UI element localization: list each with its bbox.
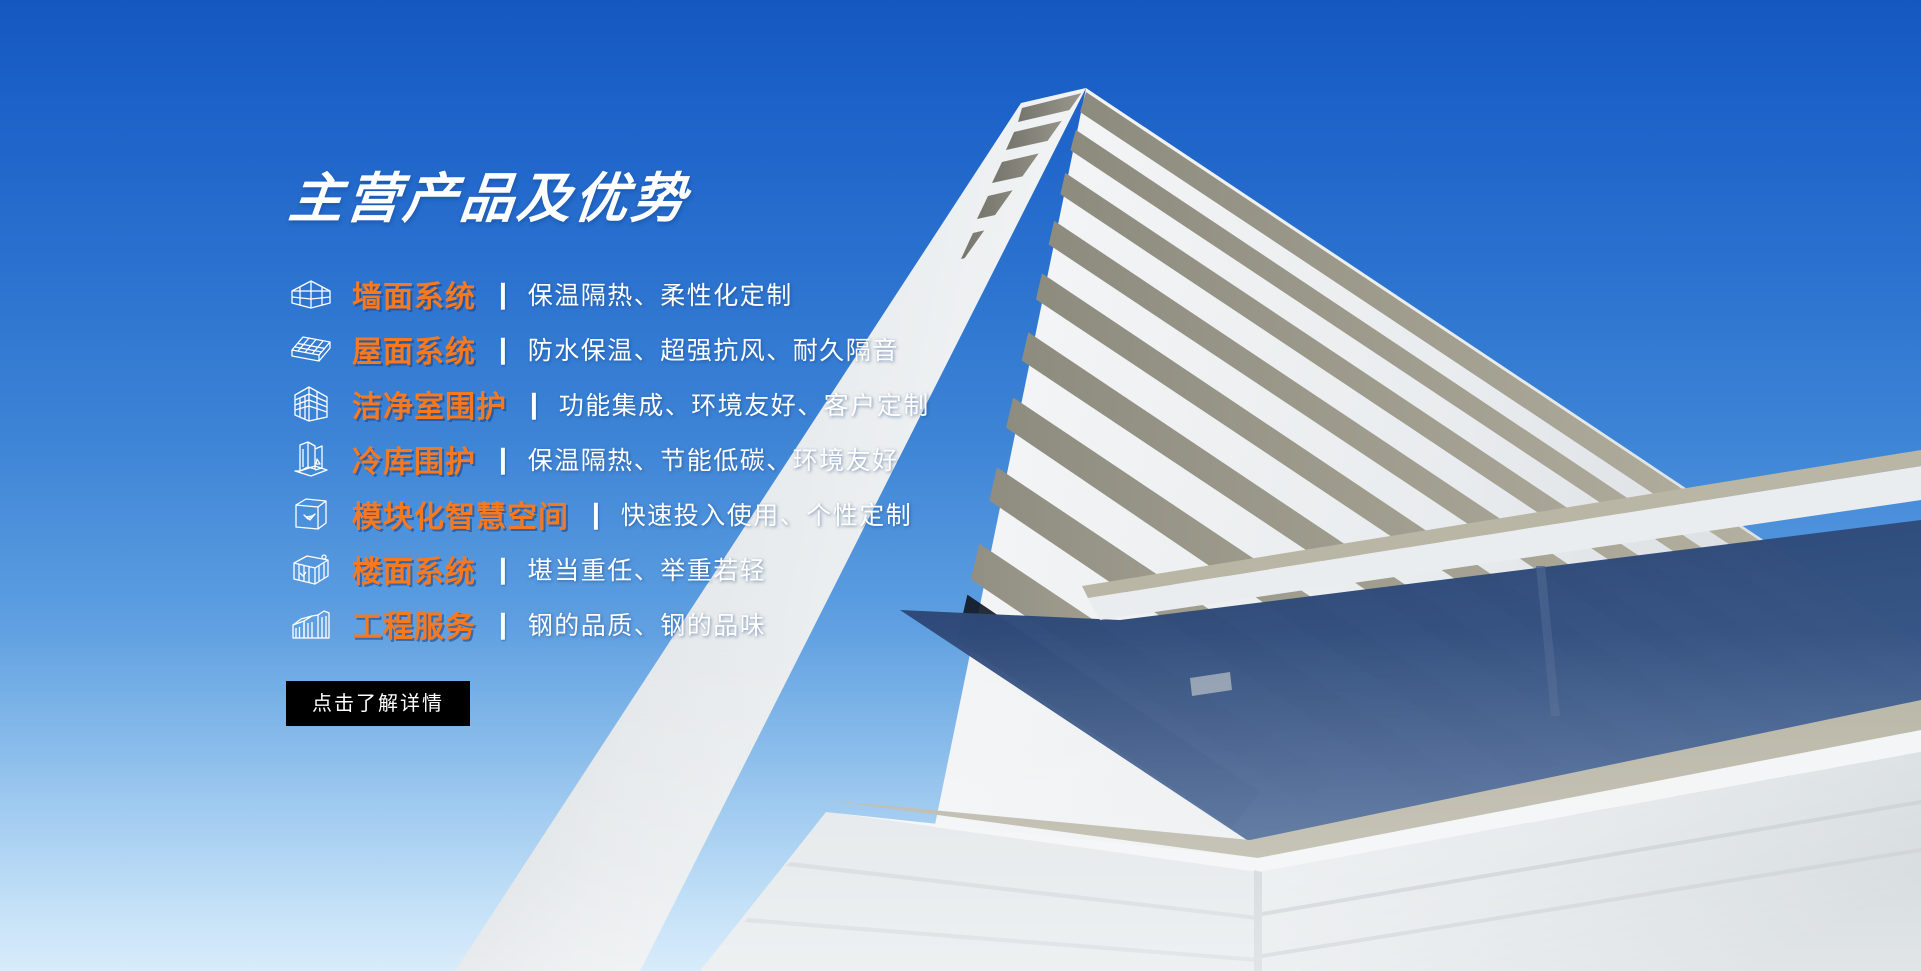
page-title: 主营产品及优势 — [286, 168, 1193, 230]
title-desc-separator: ❙ — [495, 446, 511, 472]
title-desc-separator: ❙ — [526, 391, 542, 417]
lower-block — [700, 700, 1921, 971]
title-desc-separator: ❙ — [495, 611, 511, 637]
product-desc: 保温隔热、节能低碳、环境友好 — [528, 441, 899, 477]
list-item[interactable]: 楼面系统 ❙ 堪当重任、举重若轻 — [286, 541, 1186, 596]
modular-smart-space-icon — [286, 491, 336, 537]
floor-system-icon — [286, 546, 336, 592]
learn-more-button[interactable]: 点击了解详情 — [286, 681, 470, 726]
product-desc: 防水保温、超强抗风、耐久隔音 — [528, 331, 899, 367]
product-title: 楼面系统 — [352, 547, 476, 591]
product-desc: 快速投入使用、个性定制 — [621, 496, 913, 532]
wall-system-icon — [286, 271, 336, 317]
title-desc-separator: ❙ — [495, 281, 511, 307]
engineering-service-icon — [286, 601, 336, 647]
list-item[interactable]: 工程服务 ❙ 钢的品质、钢的品味 — [286, 596, 1186, 651]
upper-eave — [1082, 450, 1921, 620]
cold-storage-enclosure-icon — [286, 436, 336, 482]
banner-content: 主营产品及优势 墙面系统 ❙ 保温隔热、柔性化定制 — [286, 168, 1186, 726]
product-title: 屋面系统 — [352, 327, 476, 371]
cleanroom-enclosure-icon — [286, 381, 336, 427]
product-desc: 功能集成、环境友好、客户定制 — [559, 386, 930, 422]
downpipe — [1536, 566, 1560, 716]
product-desc: 钢的品质、钢的品味 — [528, 606, 767, 642]
roof-system-icon — [286, 326, 336, 372]
list-item[interactable]: 冷库围护 ❙ 保温隔热、节能低碳、环境友好 — [286, 431, 1186, 486]
title-desc-separator: ❙ — [495, 336, 511, 362]
wall-vent — [1190, 672, 1232, 696]
title-desc-separator: ❙ — [495, 556, 511, 582]
product-title: 墙面系统 — [352, 272, 476, 316]
product-title: 工程服务 — [352, 602, 476, 646]
product-desc: 保温隔热、柔性化定制 — [528, 276, 793, 312]
product-desc: 堪当重任、举重若轻 — [528, 551, 767, 587]
list-item[interactable]: 屋面系统 ❙ 防水保温、超强抗风、耐久隔音 — [286, 321, 1186, 376]
list-item[interactable]: 洁净室围护 ❙ 功能集成、环境友好、客户定制 — [286, 376, 1186, 431]
list-item[interactable]: 墙面系统 ❙ 保温隔热、柔性化定制 — [286, 266, 1186, 321]
product-list: 墙面系统 ❙ 保温隔热、柔性化定制 — [286, 266, 1186, 651]
list-item[interactable]: 模块化智慧空间 ❙ 快速投入使用、个性定制 — [286, 486, 1186, 541]
product-title: 模块化智慧空间 — [352, 492, 569, 536]
title-desc-separator: ❙ — [588, 501, 604, 527]
product-title: 洁净室围护 — [352, 382, 507, 426]
hero-banner: 主营产品及优势 墙面系统 ❙ 保温隔热、柔性化定制 — [0, 0, 1921, 971]
product-title: 冷库围护 — [352, 437, 476, 481]
